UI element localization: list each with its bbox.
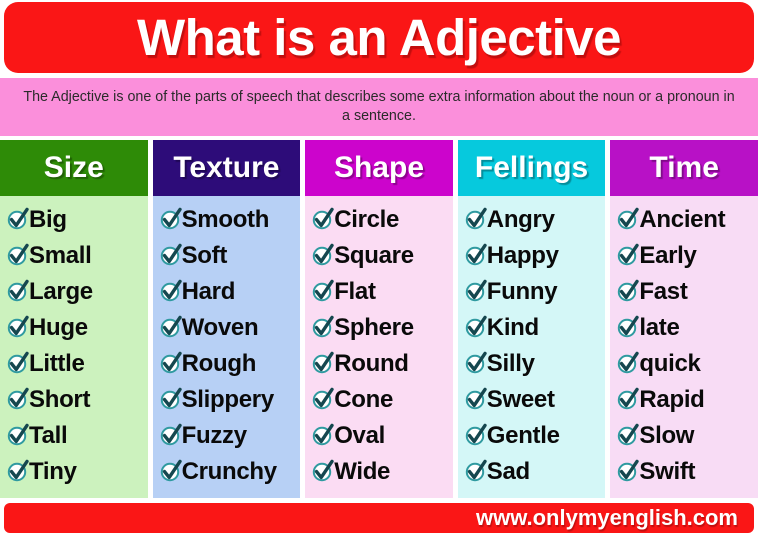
check-circle-icon bbox=[159, 281, 181, 303]
list-item: Round bbox=[311, 346, 453, 382]
list-item: Woven bbox=[159, 310, 301, 346]
column-word-list: AncientEarlyFastlatequickRapidSlowSwift bbox=[610, 196, 758, 498]
check-circle-icon bbox=[159, 461, 181, 483]
adjective-word: Tiny bbox=[29, 460, 77, 484]
footer-banner: www.onlymyenglish.com bbox=[4, 503, 754, 533]
list-item: Rapid bbox=[616, 382, 758, 418]
list-item: Gentle bbox=[464, 418, 606, 454]
adjective-word: Round bbox=[334, 352, 408, 376]
check-circle-icon bbox=[311, 461, 333, 483]
title-banner: What is an Adjective bbox=[4, 2, 754, 73]
list-item: Circle bbox=[311, 202, 453, 238]
list-item: Big bbox=[6, 202, 148, 238]
check-circle-icon bbox=[6, 461, 28, 483]
adjective-word: Rapid bbox=[639, 388, 704, 412]
list-item: Slow bbox=[616, 418, 758, 454]
adjective-word: Oval bbox=[334, 424, 385, 448]
adjective-word: Crunchy bbox=[182, 460, 277, 484]
adjective-word: Fuzzy bbox=[182, 424, 247, 448]
adjective-word: Wide bbox=[334, 460, 390, 484]
check-circle-icon bbox=[159, 317, 181, 339]
adjective-word: Angry bbox=[487, 208, 555, 232]
list-item: Sphere bbox=[311, 310, 453, 346]
list-item: Short bbox=[6, 382, 148, 418]
adjective-word: Small bbox=[29, 244, 92, 268]
list-item: Happy bbox=[464, 238, 606, 274]
adjective-word: Early bbox=[639, 244, 696, 268]
check-circle-icon bbox=[464, 317, 486, 339]
check-circle-icon bbox=[616, 245, 638, 267]
adjective-word: Square bbox=[334, 244, 414, 268]
list-item: Angry bbox=[464, 202, 606, 238]
check-circle-icon bbox=[464, 353, 486, 375]
check-circle-icon bbox=[159, 389, 181, 411]
adjective-word: Silly bbox=[487, 352, 535, 376]
adjective-word: quick bbox=[639, 352, 700, 376]
list-item: Crunchy bbox=[159, 454, 301, 490]
adjective-word: Sad bbox=[487, 460, 530, 484]
check-circle-icon bbox=[464, 245, 486, 267]
list-item: Sweet bbox=[464, 382, 606, 418]
check-circle-icon bbox=[6, 245, 28, 267]
column-word-list: CircleSquareFlatSphereRoundConeOvalWide bbox=[305, 196, 453, 498]
list-item: Silly bbox=[464, 346, 606, 382]
check-circle-icon bbox=[159, 245, 181, 267]
adjective-word: Huge bbox=[29, 316, 88, 340]
list-item: Soft bbox=[159, 238, 301, 274]
adjective-word: Sweet bbox=[487, 388, 555, 412]
adjective-infographic: What is an Adjective The Adjective is on… bbox=[0, 0, 758, 535]
adjective-word: Sphere bbox=[334, 316, 414, 340]
list-item: Wide bbox=[311, 454, 453, 490]
check-circle-icon bbox=[464, 281, 486, 303]
column-header-label: Shape bbox=[334, 153, 424, 183]
list-item: Square bbox=[311, 238, 453, 274]
adjective-word: Soft bbox=[182, 244, 227, 268]
category-columns: SizeBigSmallLargeHugeLittleShortTallTiny… bbox=[0, 140, 758, 498]
column-header-fellings: Fellings bbox=[458, 140, 606, 196]
adjective-word: Swift bbox=[639, 460, 695, 484]
check-circle-icon bbox=[616, 389, 638, 411]
check-circle-icon bbox=[159, 353, 181, 375]
check-circle-icon bbox=[311, 353, 333, 375]
list-item: Cone bbox=[311, 382, 453, 418]
category-column-fellings: FellingsAngryHappyFunnyKindSillySweetGen… bbox=[458, 140, 606, 498]
check-circle-icon bbox=[6, 317, 28, 339]
adjective-word: Little bbox=[29, 352, 85, 376]
adjective-word: Smooth bbox=[182, 208, 270, 232]
list-item: Huge bbox=[6, 310, 148, 346]
website-url: www.onlymyenglish.com bbox=[476, 507, 738, 529]
list-item: Fast bbox=[616, 274, 758, 310]
adjective-word: Hard bbox=[182, 280, 235, 304]
adjective-word: Ancient bbox=[639, 208, 725, 232]
list-item: Sad bbox=[464, 454, 606, 490]
adjective-word: Cone bbox=[334, 388, 393, 412]
adjective-word: Slippery bbox=[182, 388, 274, 412]
list-item: Small bbox=[6, 238, 148, 274]
column-header-size: Size bbox=[0, 140, 148, 196]
column-header-shape: Shape bbox=[305, 140, 453, 196]
column-word-list: BigSmallLargeHugeLittleShortTallTiny bbox=[0, 196, 148, 498]
list-item: Oval bbox=[311, 418, 453, 454]
list-item: Hard bbox=[159, 274, 301, 310]
adjective-word: Large bbox=[29, 280, 93, 304]
adjective-word: Happy bbox=[487, 244, 559, 268]
check-circle-icon bbox=[6, 281, 28, 303]
adjective-word: late bbox=[639, 316, 679, 340]
list-item: late bbox=[616, 310, 758, 346]
adjective-word: Woven bbox=[182, 316, 259, 340]
page-title: What is an Adjective bbox=[137, 12, 621, 63]
check-circle-icon bbox=[616, 353, 638, 375]
adjective-word: Tall bbox=[29, 424, 67, 448]
check-circle-icon bbox=[616, 425, 638, 447]
adjective-word: Circle bbox=[334, 208, 399, 232]
list-item: Early bbox=[616, 238, 758, 274]
description-banner: The Adjective is one of the parts of spe… bbox=[0, 78, 758, 136]
list-item: Tall bbox=[6, 418, 148, 454]
list-item: Swift bbox=[616, 454, 758, 490]
adjective-word: Funny bbox=[487, 280, 558, 304]
check-circle-icon bbox=[616, 281, 638, 303]
adjective-word: Big bbox=[29, 208, 67, 232]
column-header-time: Time bbox=[610, 140, 758, 196]
category-column-time: TimeAncientEarlyFastlatequickRapidSlowSw… bbox=[610, 140, 758, 498]
column-header-label: Time bbox=[649, 153, 718, 183]
check-circle-icon bbox=[6, 353, 28, 375]
check-circle-icon bbox=[6, 389, 28, 411]
category-column-shape: ShapeCircleSquareFlatSphereRoundConeOval… bbox=[305, 140, 453, 498]
column-header-label: Fellings bbox=[475, 153, 588, 183]
check-circle-icon bbox=[311, 245, 333, 267]
column-word-list: SmoothSoftHardWovenRoughSlipperyFuzzyCru… bbox=[153, 196, 301, 498]
list-item: Tiny bbox=[6, 454, 148, 490]
list-item: Flat bbox=[311, 274, 453, 310]
check-circle-icon bbox=[159, 209, 181, 231]
column-word-list: AngryHappyFunnyKindSillySweetGentleSad bbox=[458, 196, 606, 498]
check-circle-icon bbox=[464, 389, 486, 411]
list-item: Fuzzy bbox=[159, 418, 301, 454]
list-item: Rough bbox=[159, 346, 301, 382]
check-circle-icon bbox=[311, 425, 333, 447]
category-column-texture: TextureSmoothSoftHardWovenRoughSlipperyF… bbox=[153, 140, 301, 498]
column-header-label: Texture bbox=[173, 153, 279, 183]
check-circle-icon bbox=[311, 317, 333, 339]
check-circle-icon bbox=[311, 389, 333, 411]
check-circle-icon bbox=[616, 317, 638, 339]
adjective-word: Gentle bbox=[487, 424, 560, 448]
check-circle-icon bbox=[464, 209, 486, 231]
list-item: Kind bbox=[464, 310, 606, 346]
adjective-word: Fast bbox=[639, 280, 687, 304]
column-header-label: Size bbox=[44, 153, 104, 183]
list-item: Large bbox=[6, 274, 148, 310]
check-circle-icon bbox=[159, 425, 181, 447]
category-column-size: SizeBigSmallLargeHugeLittleShortTallTiny bbox=[0, 140, 148, 498]
list-item: quick bbox=[616, 346, 758, 382]
list-item: Ancient bbox=[616, 202, 758, 238]
check-circle-icon bbox=[464, 461, 486, 483]
list-item: Smooth bbox=[159, 202, 301, 238]
adjective-word: Slow bbox=[639, 424, 694, 448]
list-item: Slippery bbox=[159, 382, 301, 418]
description-text: The Adjective is one of the parts of spe… bbox=[22, 88, 736, 127]
check-circle-icon bbox=[464, 425, 486, 447]
adjective-word: Flat bbox=[334, 280, 375, 304]
adjective-word: Kind bbox=[487, 316, 539, 340]
check-circle-icon bbox=[6, 209, 28, 231]
list-item: Little bbox=[6, 346, 148, 382]
list-item: Funny bbox=[464, 274, 606, 310]
column-header-texture: Texture bbox=[153, 140, 301, 196]
check-circle-icon bbox=[616, 209, 638, 231]
adjective-word: Rough bbox=[182, 352, 256, 376]
check-circle-icon bbox=[311, 281, 333, 303]
check-circle-icon bbox=[311, 209, 333, 231]
check-circle-icon bbox=[6, 425, 28, 447]
check-circle-icon bbox=[616, 461, 638, 483]
adjective-word: Short bbox=[29, 388, 90, 412]
